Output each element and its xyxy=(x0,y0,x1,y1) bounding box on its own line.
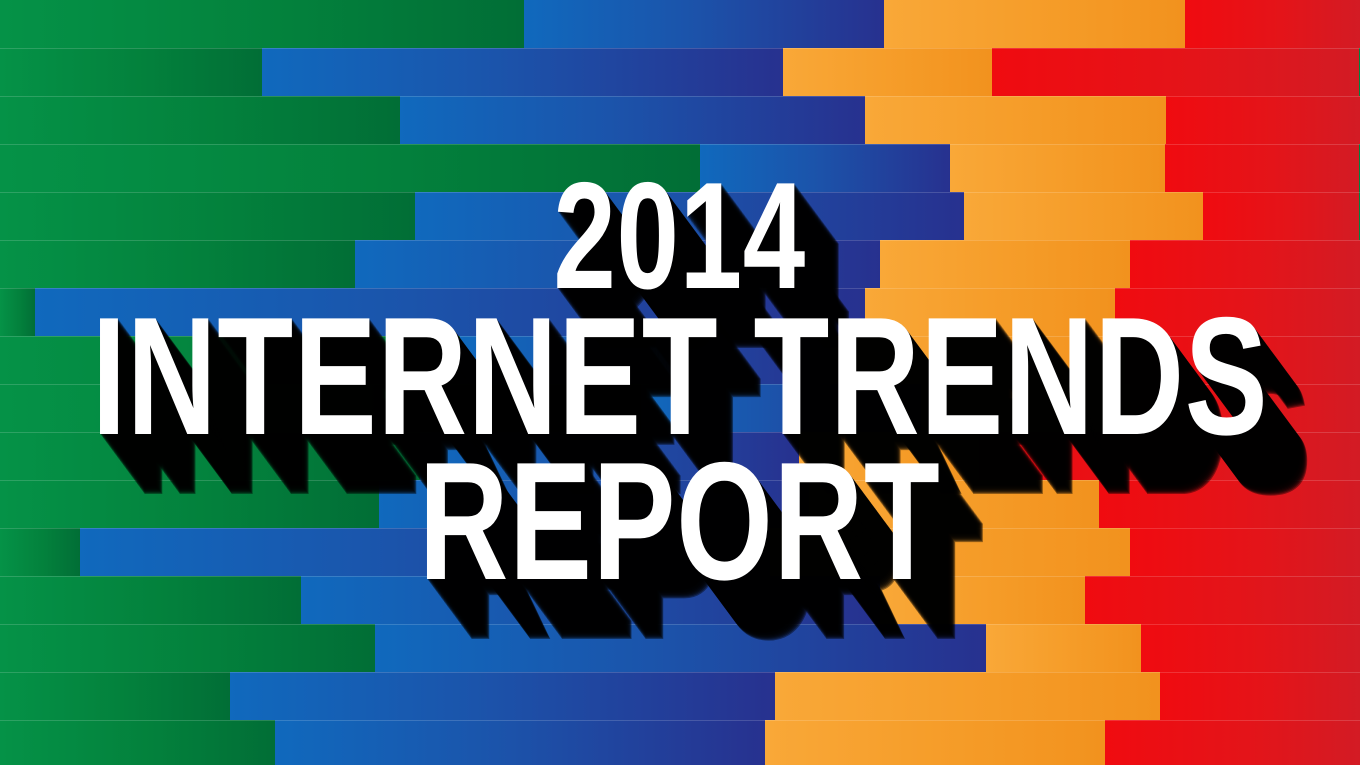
title-block: 2014 INTERNET TRENDS REPORT xyxy=(0,0,1360,765)
title-main: INTERNET TRENDS xyxy=(92,306,1269,447)
title-report: REPORT xyxy=(419,451,941,592)
title-year: 2014 xyxy=(554,173,806,301)
slide-canvas: 2014 INTERNET TRENDS REPORT xyxy=(0,0,1360,765)
